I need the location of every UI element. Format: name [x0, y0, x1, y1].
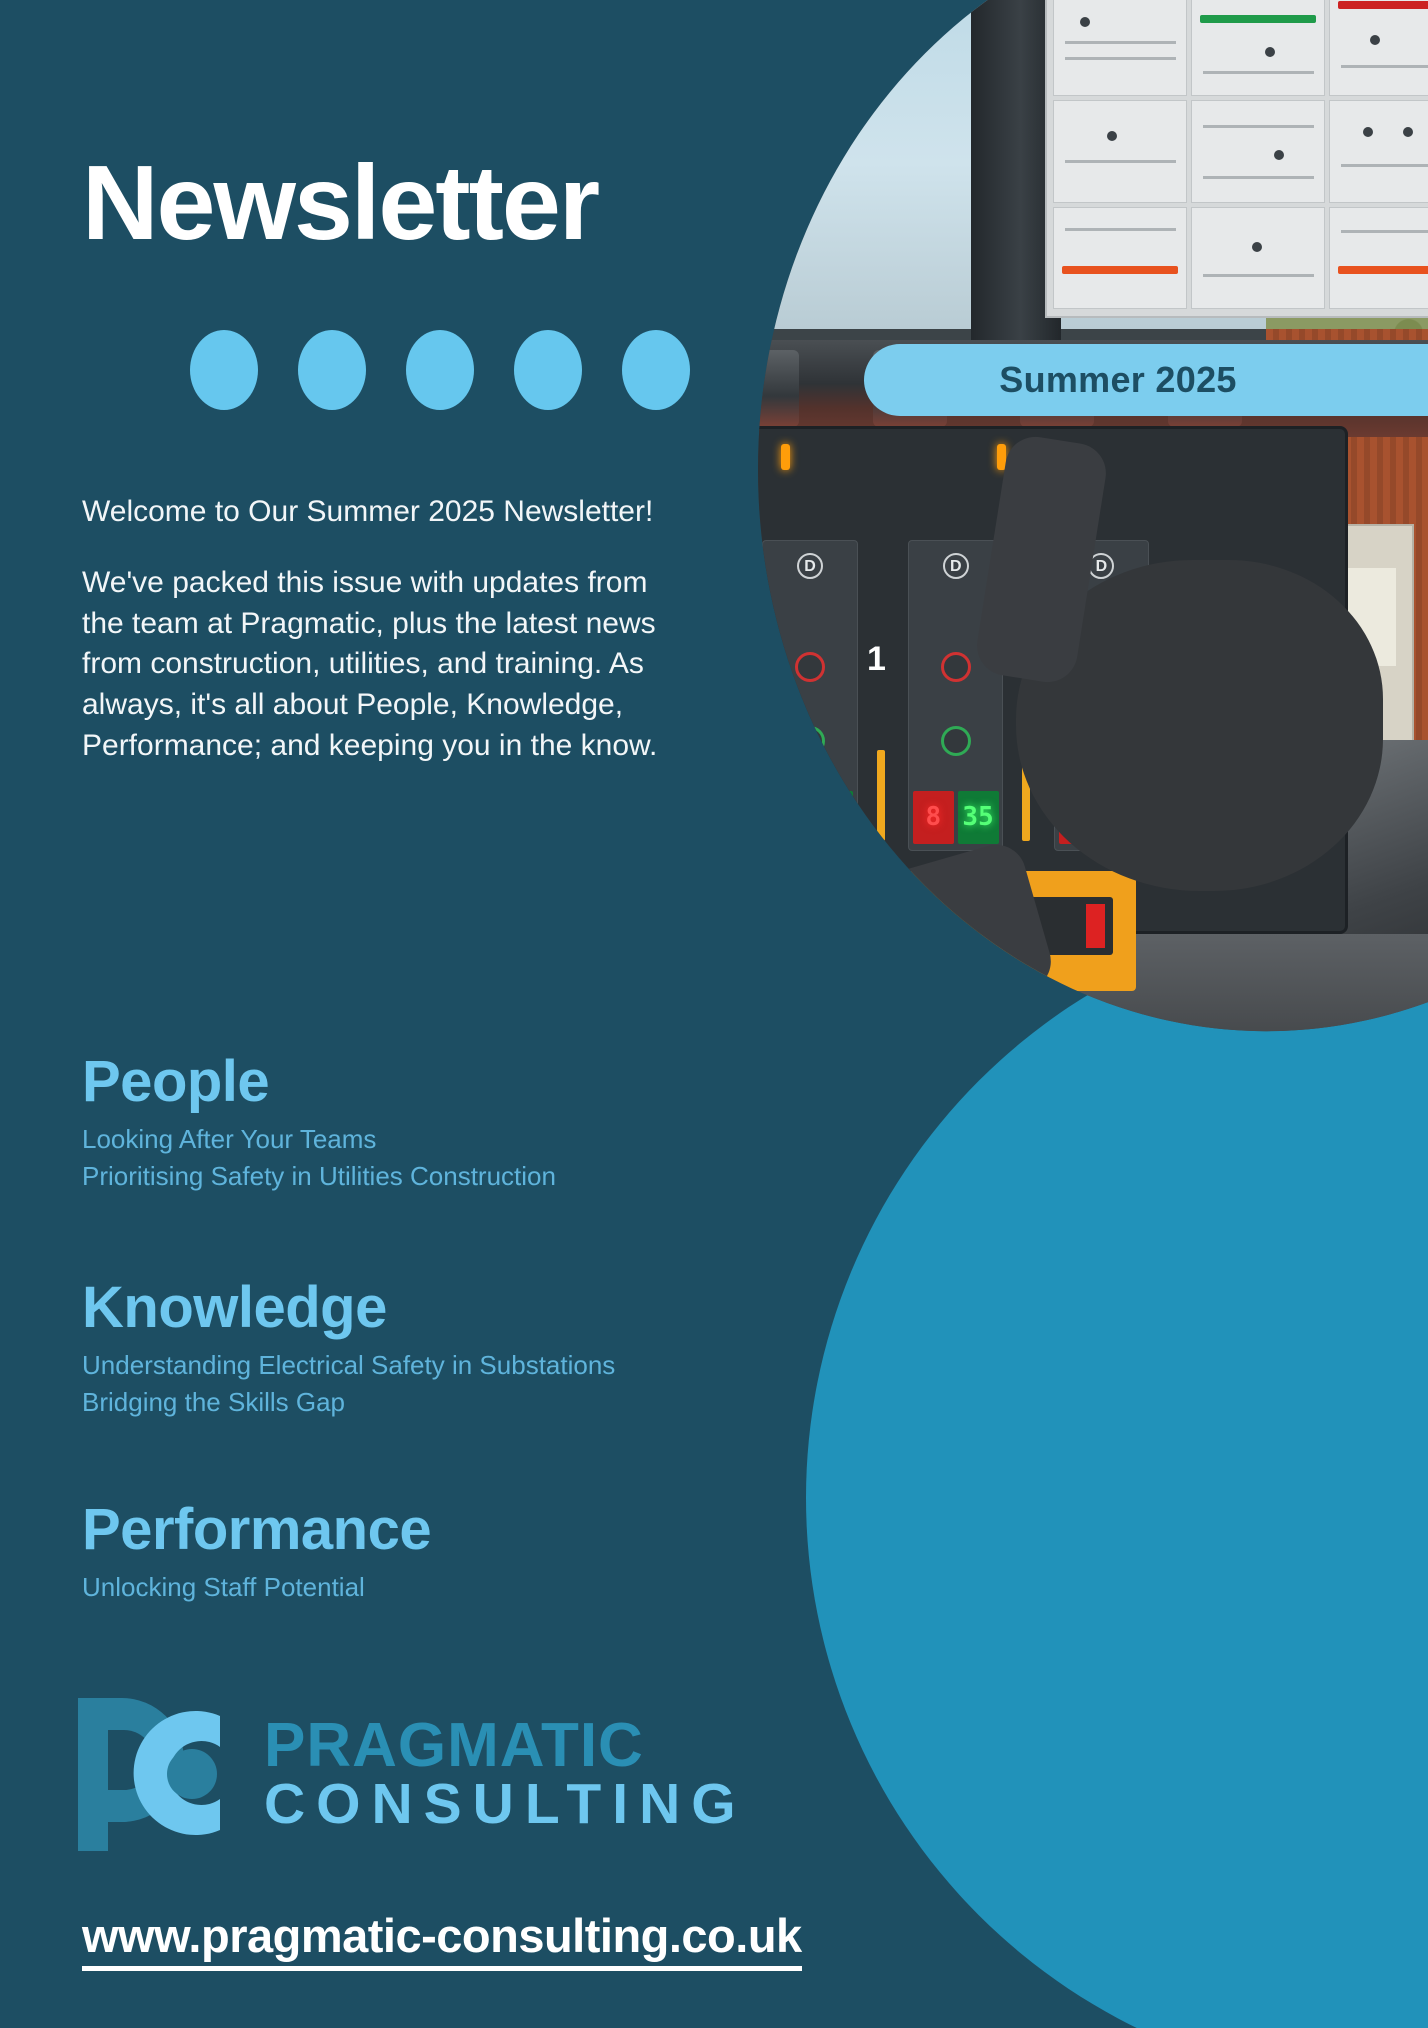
hero-photo-image: D 8 35 1 D 8 35 2 D — [676, 0, 1428, 1042]
season-badge-label: Summer 2025 — [999, 359, 1236, 401]
pc-monogram-icon — [70, 1692, 250, 1857]
intro-paragraph-1: Welcome to Our Summer 2025 Newsletter! — [82, 492, 667, 533]
indicator-lamp-icon — [781, 444, 790, 470]
section-title: Performance — [82, 1500, 431, 1561]
decorative-dot — [298, 330, 366, 410]
website-url[interactable]: www.pragmatic-consulting.co.uk — [82, 1908, 802, 1971]
section-line[interactable]: Understanding Electrical Safety in Subst… — [82, 1347, 615, 1384]
section-title: Knowledge — [82, 1278, 615, 1339]
logo-word-bottom: CONSULTING — [264, 1776, 747, 1833]
decorative-dot-row — [190, 330, 690, 410]
intro-text: Welcome to Our Summer 2025 Newsletter! W… — [82, 492, 667, 767]
section-line[interactable]: Bridging the Skills Gap — [82, 1384, 615, 1421]
photo-thumb — [834, 837, 1058, 1034]
intro-paragraph-2: We've packed this issue with updates fro… — [82, 563, 667, 767]
photo-channel-1: D 8 35 — [762, 540, 857, 851]
hero-photo: D 8 35 1 D 8 35 2 D — [676, 0, 1428, 1042]
photo-controller-face: D 8 35 1 D 8 35 2 D — [709, 426, 1349, 934]
season-badge: Summer 2025 — [864, 344, 1428, 416]
section-knowledge: Knowledge Understanding Electrical Safet… — [82, 1278, 615, 1421]
decorative-dot — [514, 330, 582, 410]
section-line[interactable]: Prioritising Safety in Utilities Constru… — [82, 1158, 556, 1195]
decorative-dot — [406, 330, 474, 410]
decorative-dot — [190, 330, 258, 410]
decorative-circle-large — [806, 908, 1428, 2028]
section-title: People — [82, 1052, 556, 1113]
logo: PRAGMATIC CONSULTING — [70, 1692, 747, 1857]
section-line[interactable]: Looking After Your Teams — [82, 1121, 556, 1158]
section-line[interactable]: Unlocking Staff Potential — [82, 1569, 431, 1606]
photo-instruction-placard — [1045, 0, 1428, 318]
logo-word-top: PRAGMATIC — [264, 1716, 747, 1776]
page-title: Newsletter — [82, 150, 598, 256]
decorative-dot — [622, 330, 690, 410]
section-performance: Performance Unlocking Staff Potential — [82, 1500, 431, 1606]
logo-wordmark: PRAGMATIC CONSULTING — [264, 1716, 747, 1833]
section-people: People Looking After Your Teams Prioriti… — [82, 1052, 556, 1195]
newsletter-cover: D 8 35 1 D 8 35 2 D — [0, 0, 1428, 2028]
